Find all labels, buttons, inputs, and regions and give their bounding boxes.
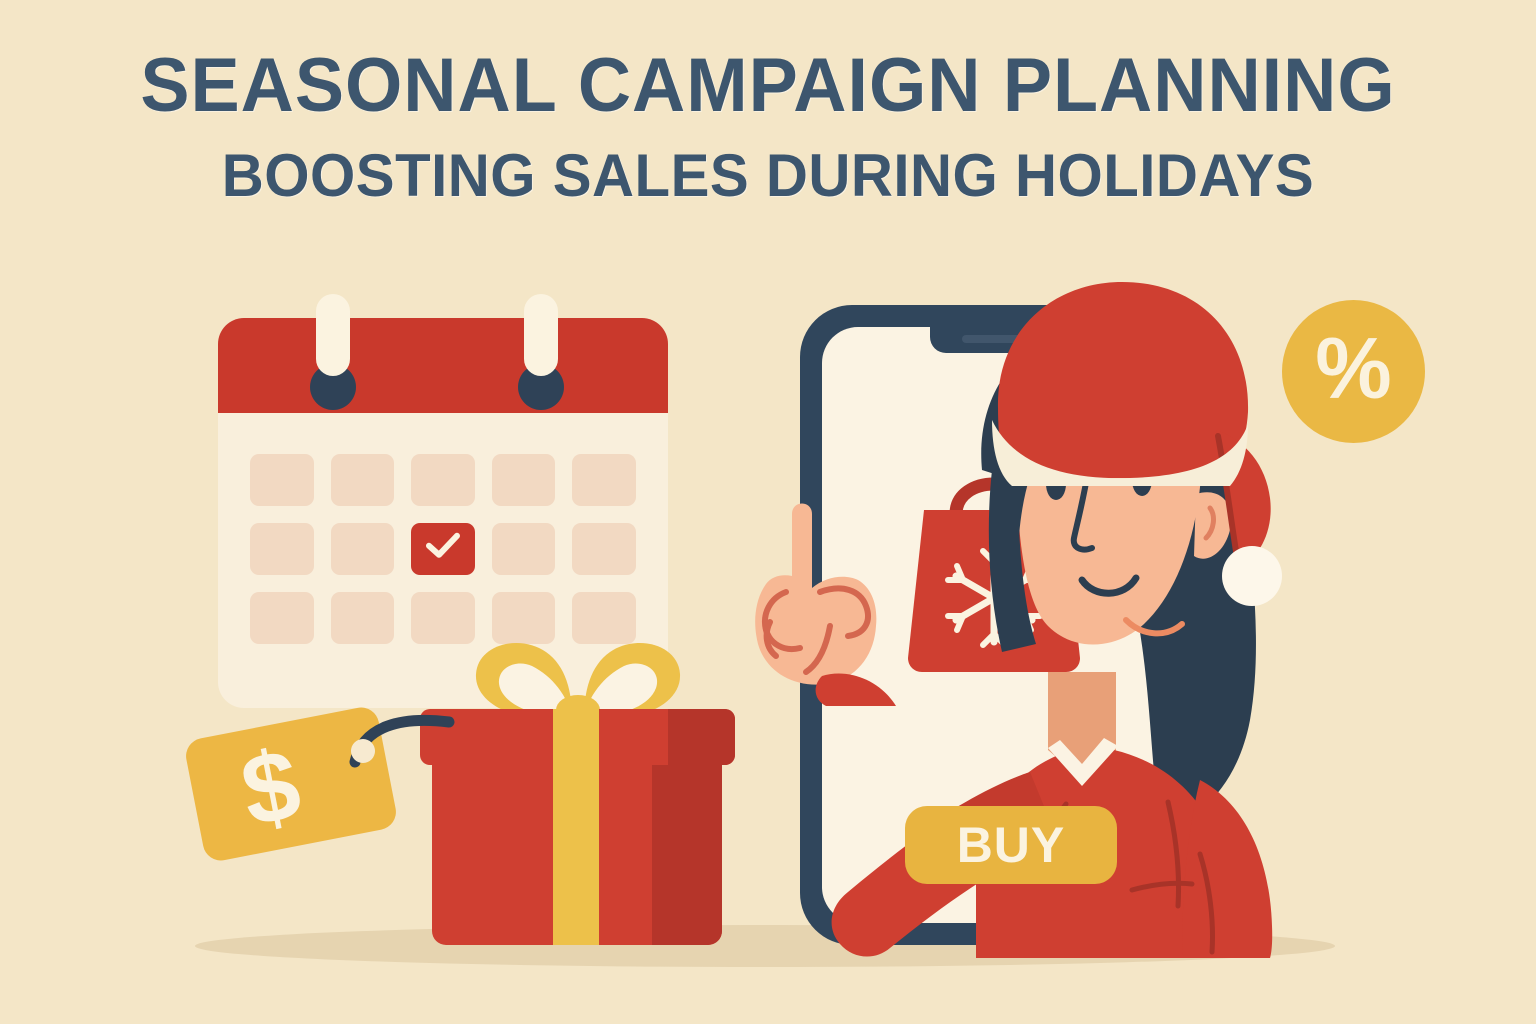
percent-symbol: % [1282, 300, 1425, 443]
pointing-up-hand [730, 480, 930, 715]
gift-box-lid-shade [668, 709, 735, 765]
calendar-day-cell[interactable] [331, 454, 395, 506]
calendar-ring [524, 294, 558, 376]
page-title: SEASONAL CAMPAIGN PLANNING [23, 48, 1513, 124]
illustration-canvas: SEASONAL CAMPAIGN PLANNING BOOSTING SALE… [0, 0, 1536, 1024]
calendar-day-cell[interactable] [492, 454, 556, 506]
price-tag: $ [185, 700, 415, 850]
calendar-day-cell[interactable] [572, 523, 636, 575]
sleeve-cuff [816, 674, 896, 706]
calendar-day-cell[interactable] [492, 523, 556, 575]
calendar-day-cell[interactable] [331, 523, 395, 575]
calendar-grid [250, 454, 636, 644]
page-subtitle: BOOSTING SALES DURING HOLIDAYS [23, 146, 1513, 206]
calendar-day-cell-selected[interactable] [411, 523, 475, 575]
calendar-ring [316, 294, 350, 376]
sweater-arm-right [1182, 780, 1272, 958]
calendar-day-cell[interactable] [250, 523, 314, 575]
buy-button[interactable]: BUY [905, 806, 1117, 884]
gift-ribbon-on-lid [553, 709, 599, 765]
calendar-header-bar [218, 318, 668, 413]
buy-button-label: BUY [957, 820, 1066, 870]
check-icon [425, 531, 461, 566]
calendar-day-cell[interactable] [411, 454, 475, 506]
calendar-day-cell[interactable] [250, 592, 314, 644]
santa-hat-pompom [1222, 546, 1282, 606]
gift-box [420, 625, 735, 945]
calendar-day-cell[interactable] [572, 454, 636, 506]
calendar-day-cell[interactable] [331, 592, 395, 644]
percent-badge: % [1282, 300, 1425, 443]
header-block: SEASONAL CAMPAIGN PLANNING BOOSTING SALE… [0, 48, 1536, 206]
calendar-day-cell[interactable] [250, 454, 314, 506]
santa-hat-crown [998, 282, 1248, 478]
